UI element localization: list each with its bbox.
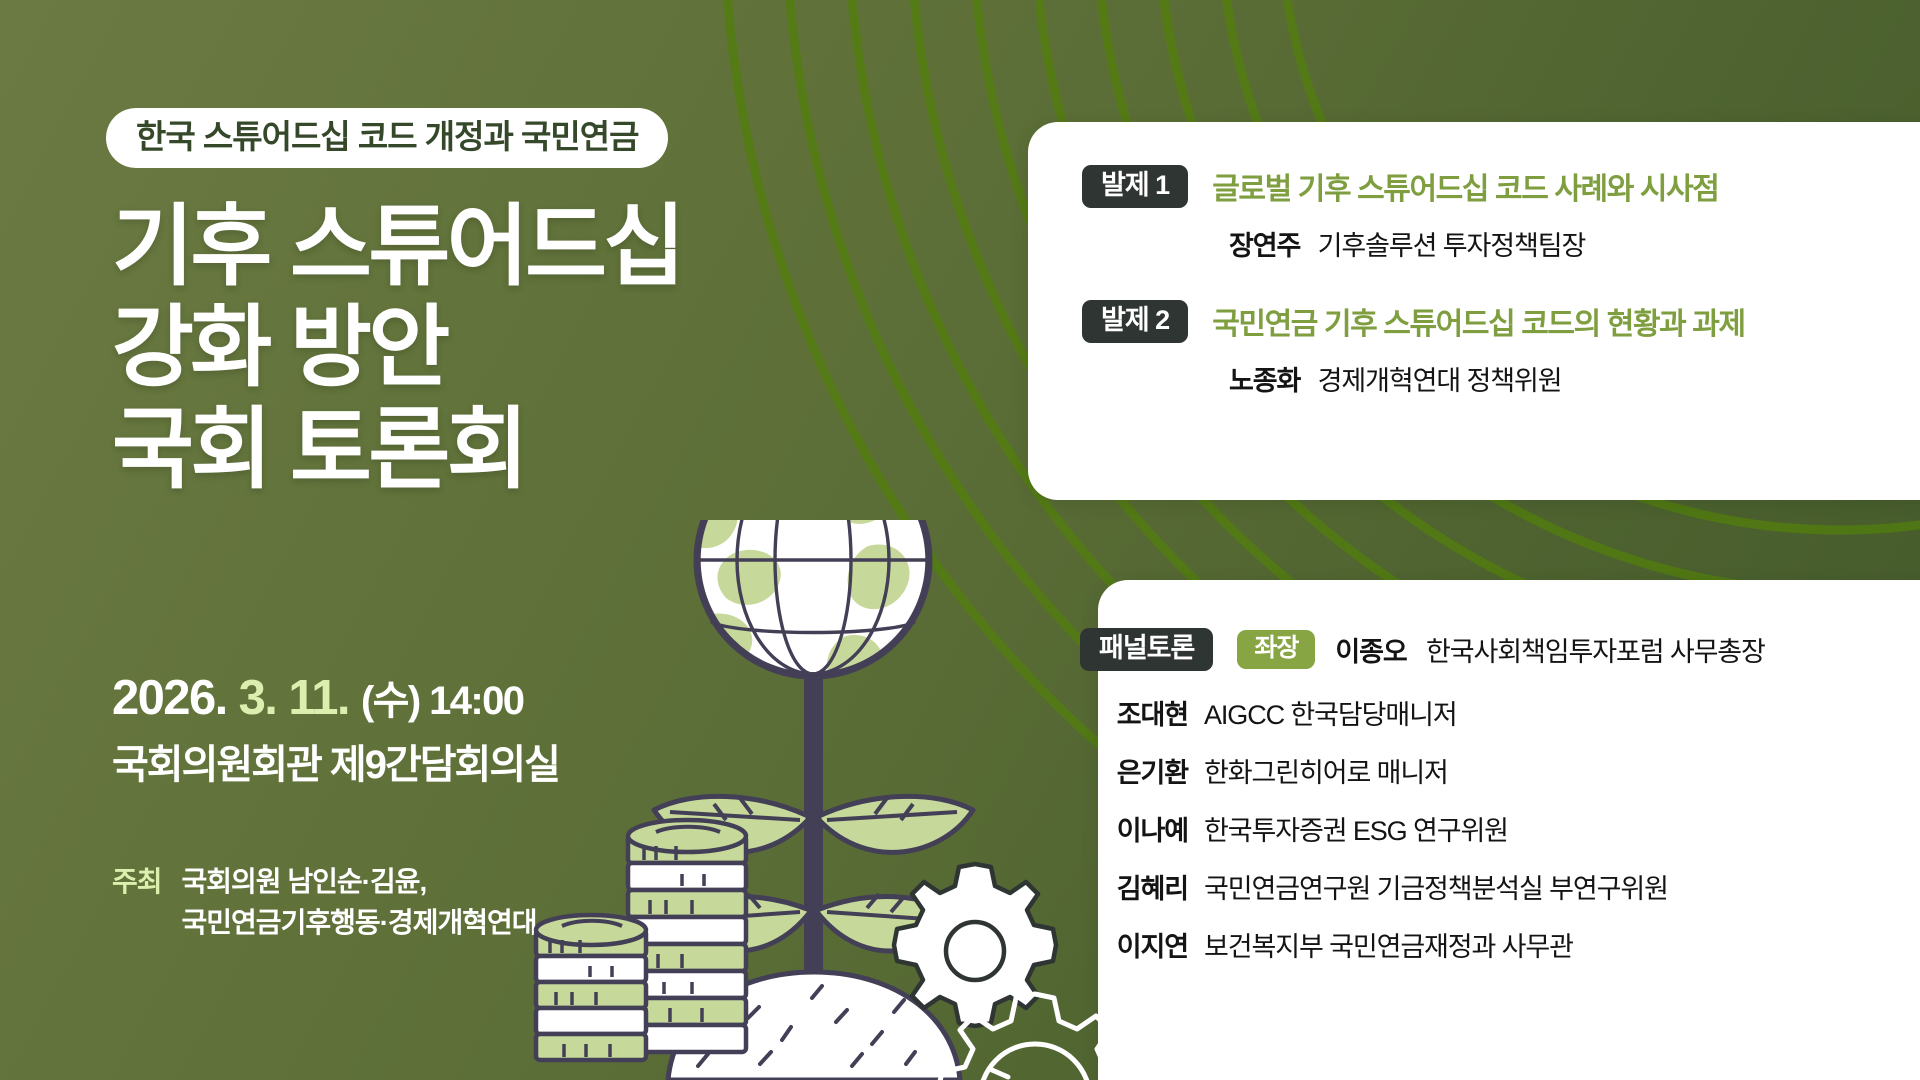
host-organizations: 국회의원 남인순·김윤, 국민연금기후행동·경제개혁연대 xyxy=(182,862,537,943)
speaker-affiliation: 경제개혁연대 정책위원 xyxy=(1318,366,1562,396)
session-speaker: 장연주 기후솔루션 투자정책팀장 xyxy=(1229,224,1745,263)
panelist-affiliation: 한국투자증권 ESG 연구위원 xyxy=(1204,809,1508,848)
host-label: 주최 xyxy=(112,862,162,943)
list-item: 조대현 AIGCC 한국담당매니저 xyxy=(1080,693,1765,732)
left-column: 한국 스튜어드십 코드 개정과 국민연금 기후 스튜어드십 강화 방안 국회 토… xyxy=(0,0,1020,1080)
speaker-name: 장연주 xyxy=(1229,231,1300,261)
chair-name-text: 이종오 xyxy=(1335,637,1406,667)
host-line-1: 국회의원 남인순·김윤, xyxy=(182,862,537,903)
panelist-name: 김혜리 xyxy=(1080,867,1204,906)
sessions-card: 발제 1 글로벌 기후 스튜어드십 코드 사례와 시사점 장연주 기후솔루션 투… xyxy=(1028,122,1920,500)
date-month-day: 3. 11. xyxy=(239,671,349,725)
date-year: 2026. xyxy=(112,671,227,725)
session-title: 국민연금 기후 스튜어드십 코드의 현황과 과제 xyxy=(1212,299,1744,343)
list-item: 은기환 한화그린히어로 매니저 xyxy=(1080,751,1765,790)
list-item: 이나예 한국투자증권 ESG 연구위원 xyxy=(1080,809,1765,848)
event-poster: 한국 스튜어드십 코드 개정과 국민연금 기후 스튜어드십 강화 방안 국회 토… xyxy=(0,0,1920,1080)
title-line-3: 국회 토론회 xyxy=(112,399,682,500)
panelist-name: 은기환 xyxy=(1080,751,1204,790)
panel-badge: 패널토론 xyxy=(1080,628,1213,671)
panelist-affiliation: AIGCC 한국담당매니저 xyxy=(1204,693,1457,732)
session-item: 발제 2 국민연금 기후 스튜어드십 코드의 현황과 과제 노종화 경제개혁연대… xyxy=(1082,299,1745,398)
subtitle-pill: 한국 스튜어드십 코드 개정과 국민연금 xyxy=(106,108,668,168)
panelist-name: 조대현 xyxy=(1080,693,1204,732)
panelist-affiliation: 국민연금연구원 기금정책분석실 부연구위원 xyxy=(1204,867,1668,906)
page-title: 기후 스튜어드십 강화 방안 국회 토론회 xyxy=(112,196,682,500)
panel-discussion-card: 패널토론 좌장 이종오 한국사회책임투자포럼 사무총장 조대현 AIGCC 한국… xyxy=(1098,580,1920,1080)
panelist-affiliation: 한화그린히어로 매니저 xyxy=(1204,751,1448,790)
list-item: 김혜리 국민연금연구원 기금정책분석실 부연구위원 xyxy=(1080,867,1765,906)
session-item: 발제 1 글로벌 기후 스튜어드십 코드 사례와 시사점 장연주 기후솔루션 투… xyxy=(1082,164,1745,263)
list-item: 이지연 보건복지부 국민연금재정과 사무관 xyxy=(1080,925,1765,964)
session-badge: 발제 1 xyxy=(1082,165,1188,208)
event-venue: 국회의원회관 제9간담회의실 xyxy=(112,745,559,785)
speaker-affiliation: 기후솔루션 투자정책팀장 xyxy=(1318,231,1586,261)
event-datetime: 2026. 3. 11. (수) 14:00 xyxy=(112,674,523,723)
date-weekday-time: (수) 14:00 xyxy=(361,679,523,723)
session-title: 글로벌 기후 스튜어드십 코드 사례와 시사점 xyxy=(1212,164,1718,208)
panel-content: 패널토론 좌장 이종오 한국사회책임투자포럼 사무총장 조대현 AIGCC 한국… xyxy=(1080,628,1765,983)
title-line-2: 강화 방안 xyxy=(112,297,682,398)
panelists-list: 조대현 AIGCC 한국담당매니저 은기환 한화그린히어로 매니저 이나예 한국… xyxy=(1080,693,1765,964)
chair-affiliation: 한국사회책임투자포럼 사무총장 xyxy=(1426,637,1765,667)
panelist-name: 이지연 xyxy=(1080,925,1204,964)
panel-chair: 이종오 한국사회책임투자포럼 사무총장 xyxy=(1335,630,1764,669)
panelist-name: 이나예 xyxy=(1080,809,1204,848)
host-line-2: 국민연금기후행동·경제개혁연대 xyxy=(182,903,537,944)
sessions-list: 발제 1 글로벌 기후 스튜어드십 코드 사례와 시사점 장연주 기후솔루션 투… xyxy=(1082,164,1745,434)
session-badge: 발제 2 xyxy=(1082,300,1188,343)
chair-badge: 좌장 xyxy=(1237,630,1315,669)
title-line-1: 기후 스튜어드십 xyxy=(112,196,682,297)
speaker-name: 노종화 xyxy=(1229,366,1300,396)
panelist-affiliation: 보건복지부 국민연금재정과 사무관 xyxy=(1204,925,1573,964)
event-host: 주최 국회의원 남인순·김윤, 국민연금기후행동·경제개혁연대 xyxy=(112,862,537,943)
session-speaker: 노종화 경제개혁연대 정책위원 xyxy=(1229,359,1745,398)
